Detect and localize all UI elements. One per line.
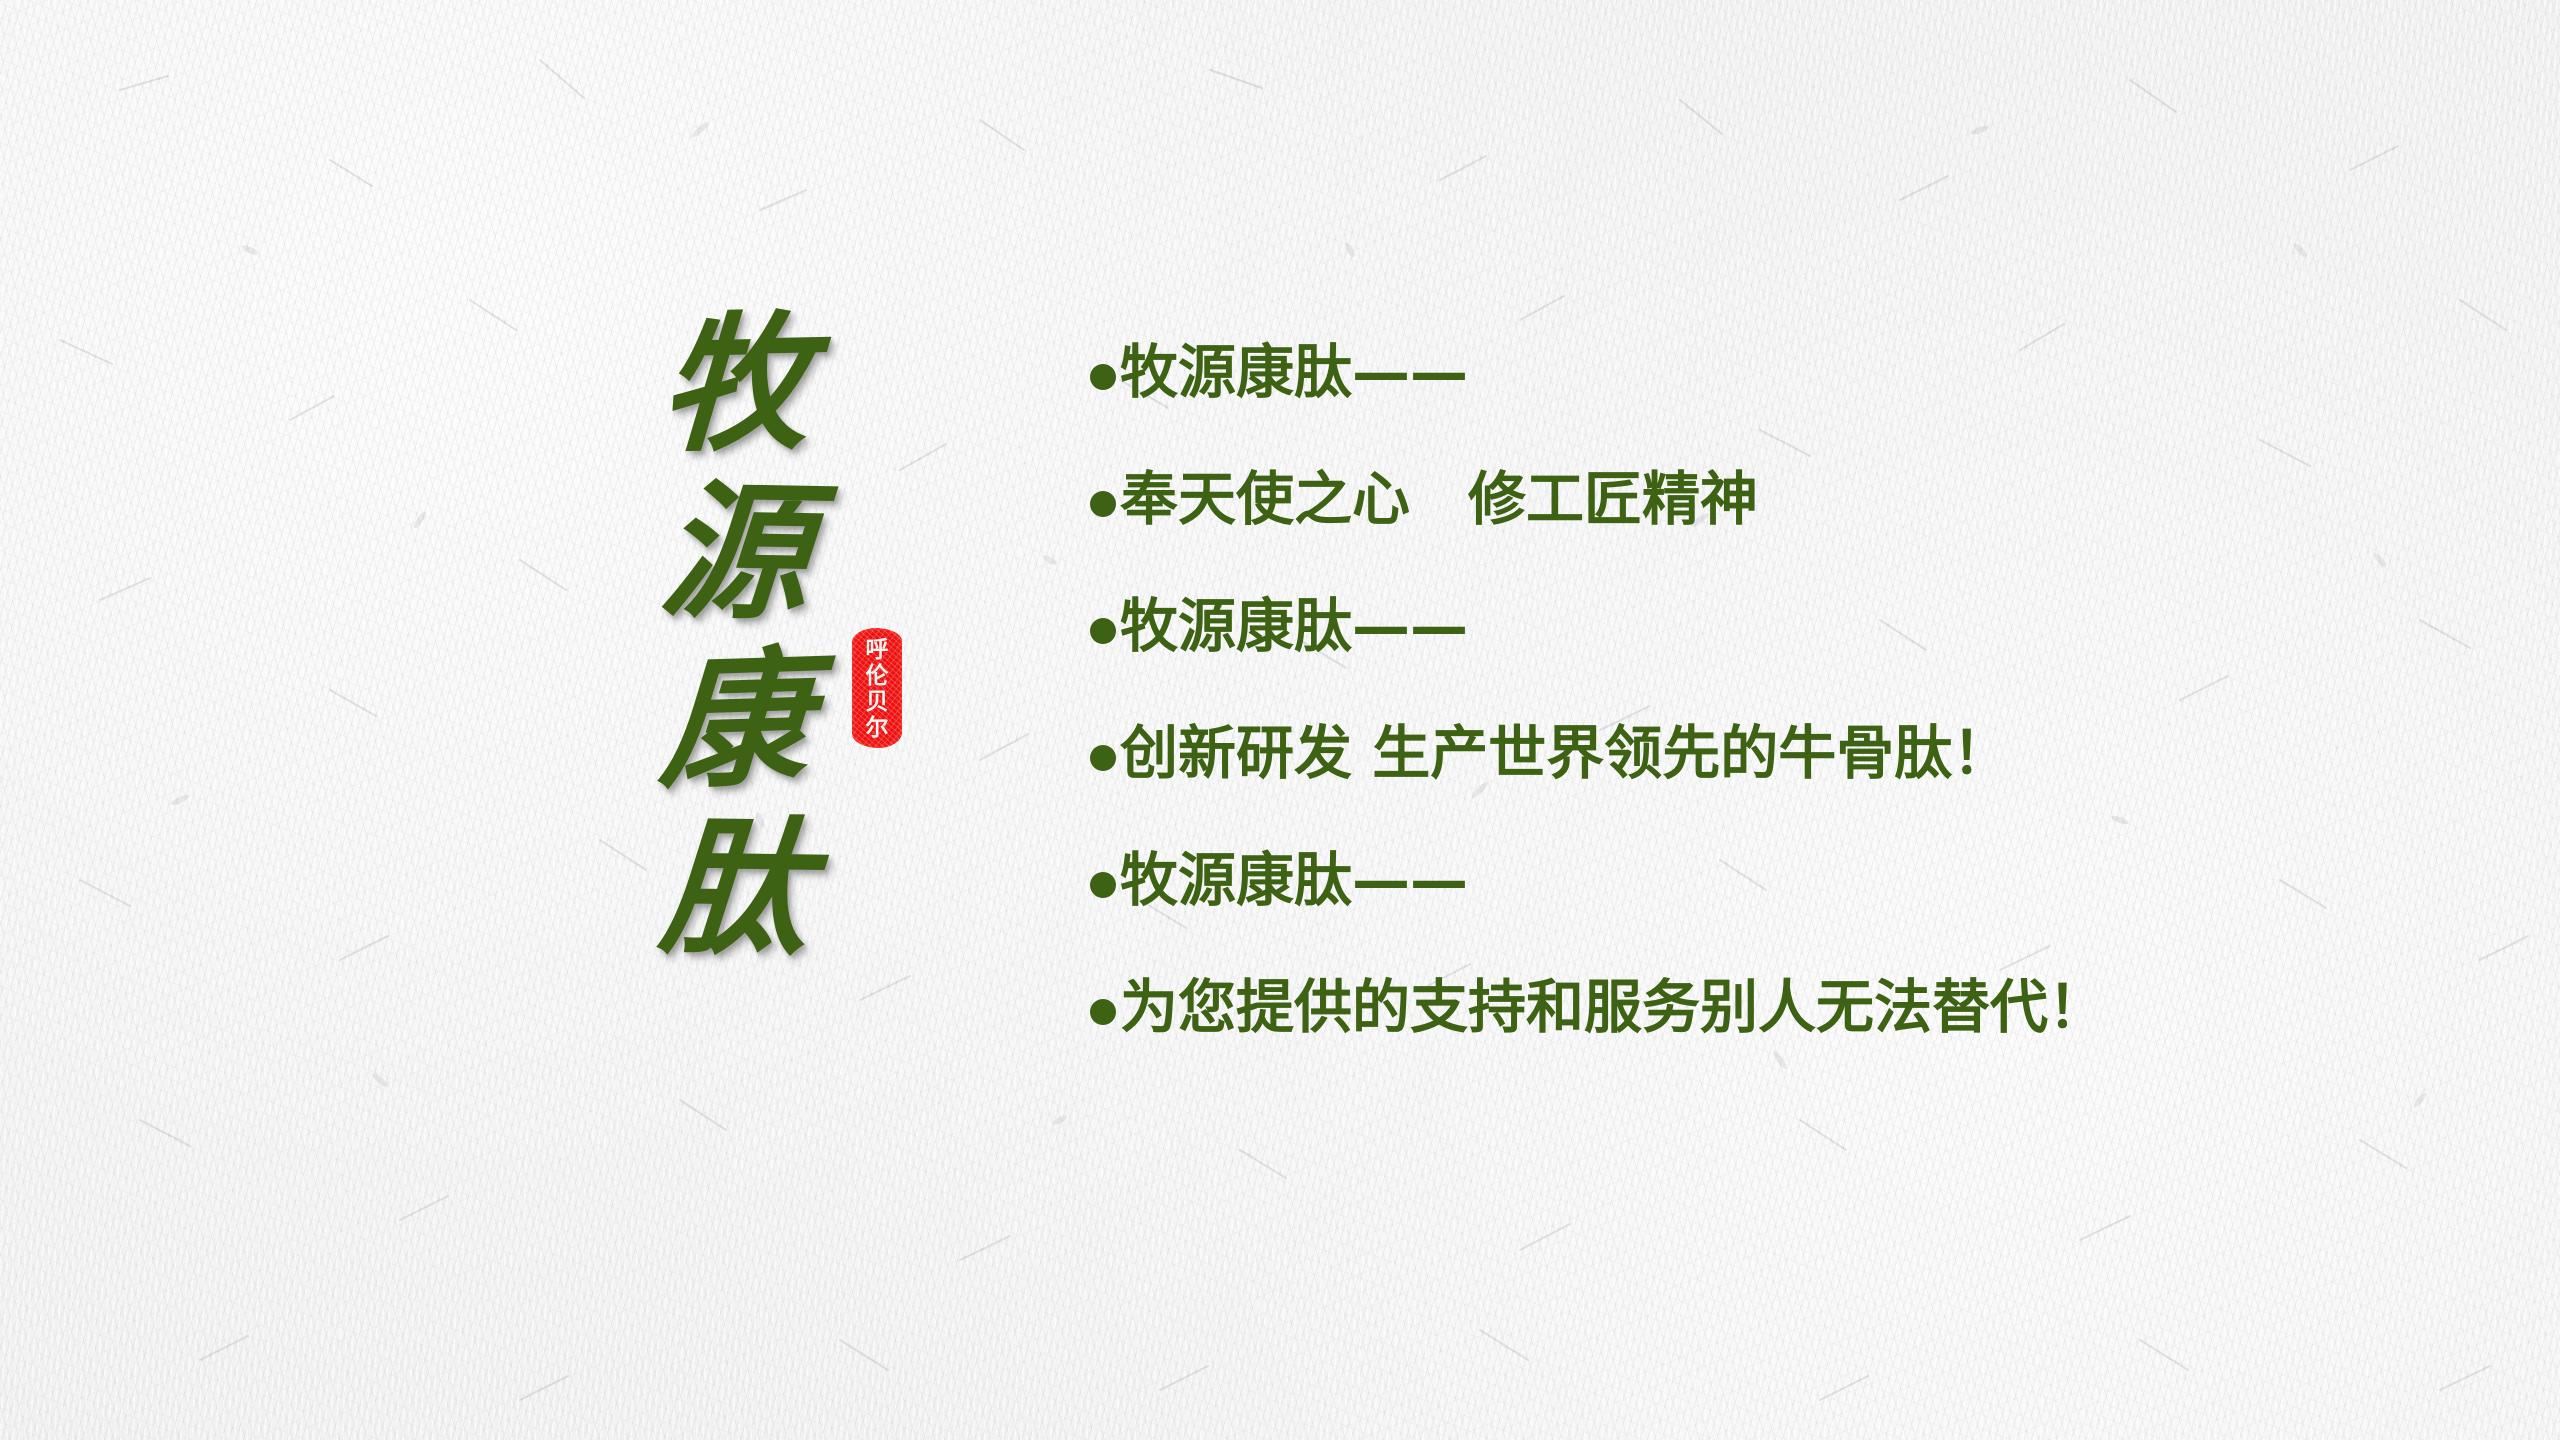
bullet-list: 牧源康肽—— 奉天使之心 修工匠精神 牧源康肽—— 创新研发 生产世界领先的牛骨… (1090, 334, 2460, 1096)
bullet-item: 牧源康肽—— (1090, 842, 2460, 969)
bullet-text: 创新研发 生产世界领先的牛骨肽！ (1120, 715, 2010, 791)
brand-char-4: 肽 (655, 803, 814, 973)
bullet-dot-icon (1090, 491, 1116, 517)
seal-text: 呼 伦 贝 尔 (852, 628, 902, 748)
bullet-item: 为您提供的支持和服务别人无法替代！ (1090, 969, 2460, 1096)
bullet-dot-icon (1090, 618, 1116, 644)
bullet-text: 牧源康肽—— (1120, 842, 1468, 918)
seal-char-4: 尔 (866, 715, 889, 740)
bullet-text: 为您提供的支持和服务别人无法替代！ (1120, 969, 2106, 1045)
bullet-item: 牧源康肽—— (1090, 334, 2460, 461)
bullet-dot-icon (1090, 745, 1116, 771)
bullet-dot-icon (1090, 872, 1116, 898)
red-seal-stamp: 呼 伦 贝 尔 (852, 628, 902, 748)
bullet-dot-icon (1090, 999, 1116, 1025)
seal-char-1: 呼 (866, 637, 889, 662)
bullet-item: 创新研发 生产世界领先的牛骨肽！ (1090, 715, 2460, 842)
brand-char-3: 康 (656, 634, 814, 807)
slide-canvas: 牧 源 康 肽 呼 伦 贝 尔 牧源康肽—— 奉天使之心 修工匠精神 牧源康肽—… (0, 0, 2560, 1440)
brand-char-1: 牧 (657, 298, 813, 469)
seal-char-2: 伦 (866, 663, 889, 688)
bullet-item: 奉天使之心 修工匠精神 (1090, 461, 2460, 588)
bullet-text: 奉天使之心 修工匠精神 (1120, 461, 1758, 537)
seal-char-3: 贝 (866, 689, 889, 714)
brand-title-vertical: 牧 源 康 肽 (630, 300, 840, 972)
bullet-text: 牧源康肽—— (1120, 334, 1468, 410)
bullet-text: 牧源康肽—— (1120, 588, 1468, 664)
bullet-item: 牧源康肽—— (1090, 588, 2460, 715)
bullet-dot-icon (1090, 364, 1116, 390)
brand-char-2: 源 (655, 467, 815, 638)
